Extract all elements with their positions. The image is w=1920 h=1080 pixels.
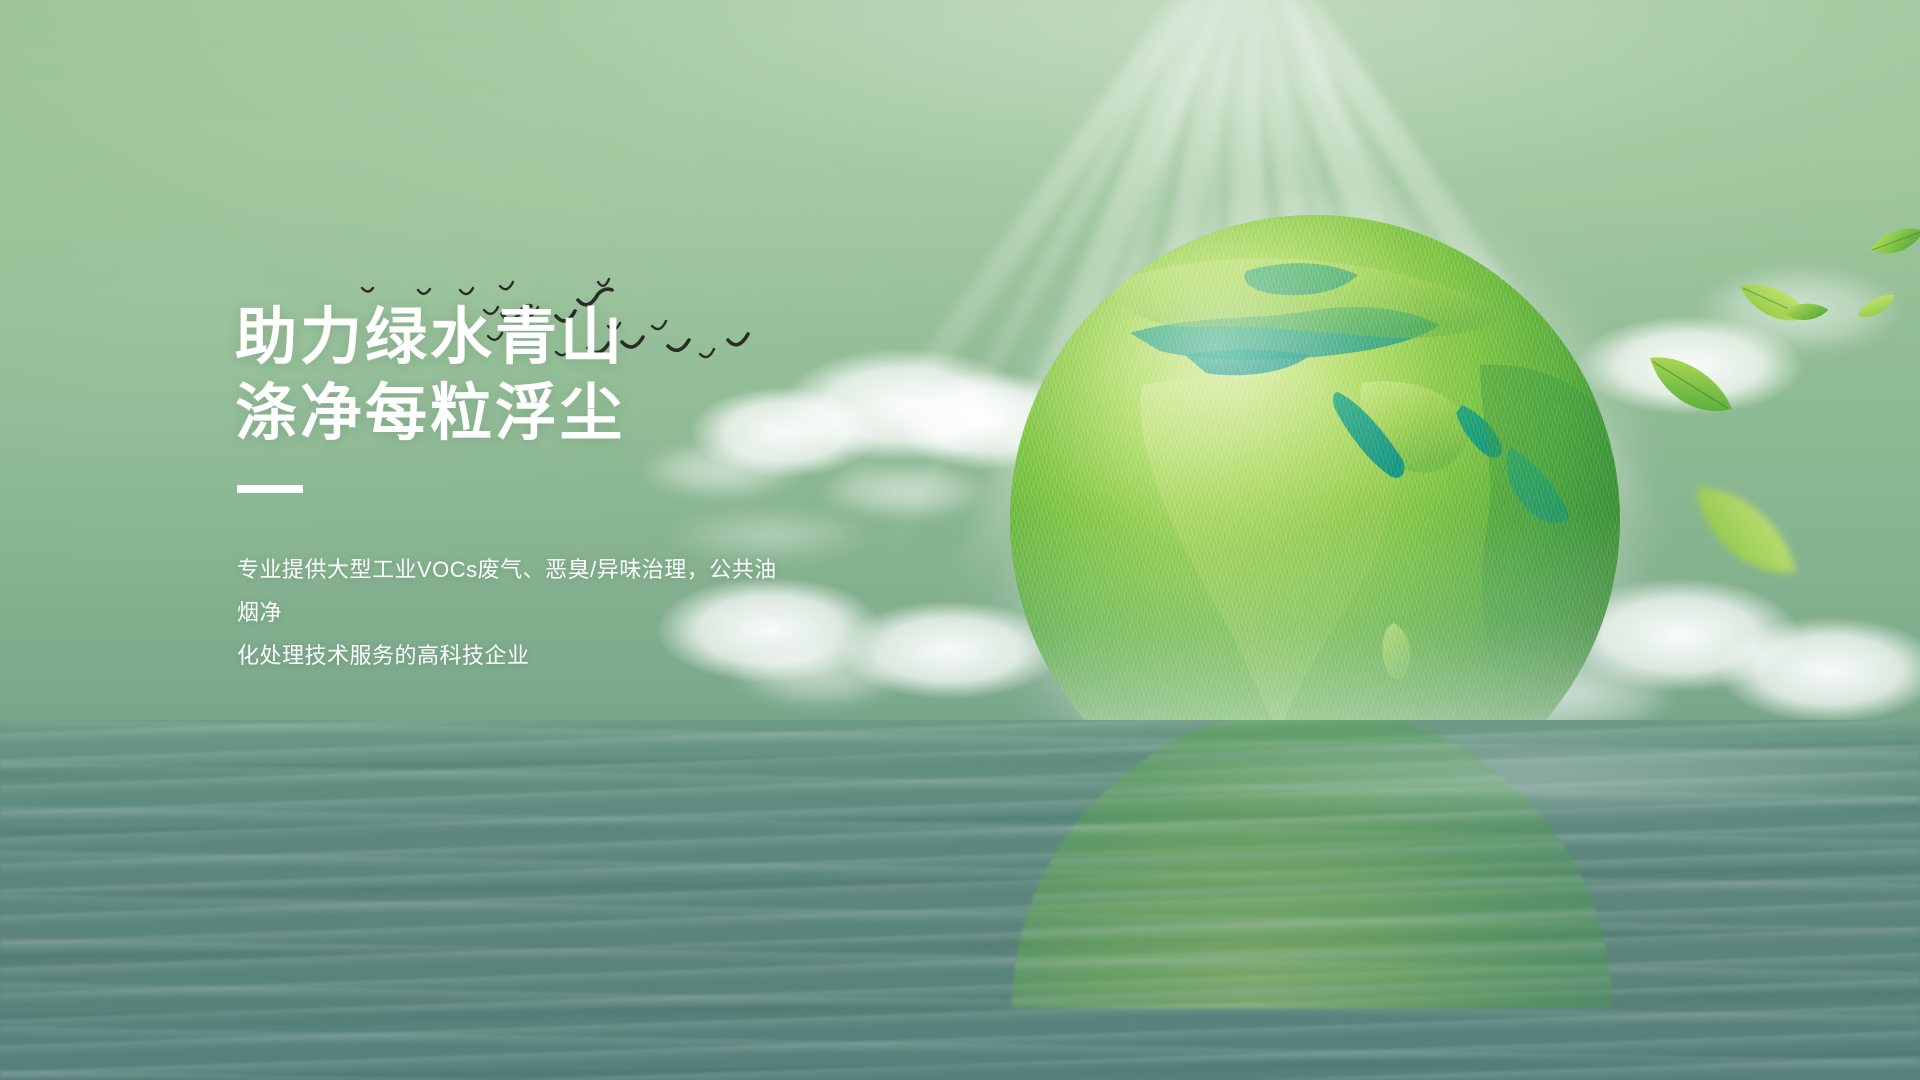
headline-line-2: 涤净每粒浮尘 [235,376,935,452]
headline-line-1: 助力绿水青山 [235,300,935,376]
hero-banner: 助力绿水青山 涤净每粒浮尘 专业提供大型工业VOCs废气、恶臭/异味治理，公共油… [0,0,1920,1080]
water-surface [0,720,1920,1080]
page-title: 助力绿水青山 涤净每粒浮尘 [235,300,935,451]
floating-green-leaves [1640,230,1920,650]
cloud [1680,600,1920,740]
description-line-1: 专业提供大型工业VOCs废气、恶臭/异味治理，公共油烟净 [237,549,777,635]
water-highlight [826,727,1920,849]
divider-rule [237,485,303,493]
hero-copy: 助力绿水青山 涤净每粒浮尘 专业提供大型工业VOCs废气、恶臭/异味治理，公共油… [235,300,935,678]
cloud [1660,250,1920,370]
hero-description: 专业提供大型工业VOCs废气、恶臭/异味治理，公共油烟净 化处理技术服务的高科技… [237,549,777,678]
description-line-2: 化处理技术服务的高科技企业 [237,635,777,678]
